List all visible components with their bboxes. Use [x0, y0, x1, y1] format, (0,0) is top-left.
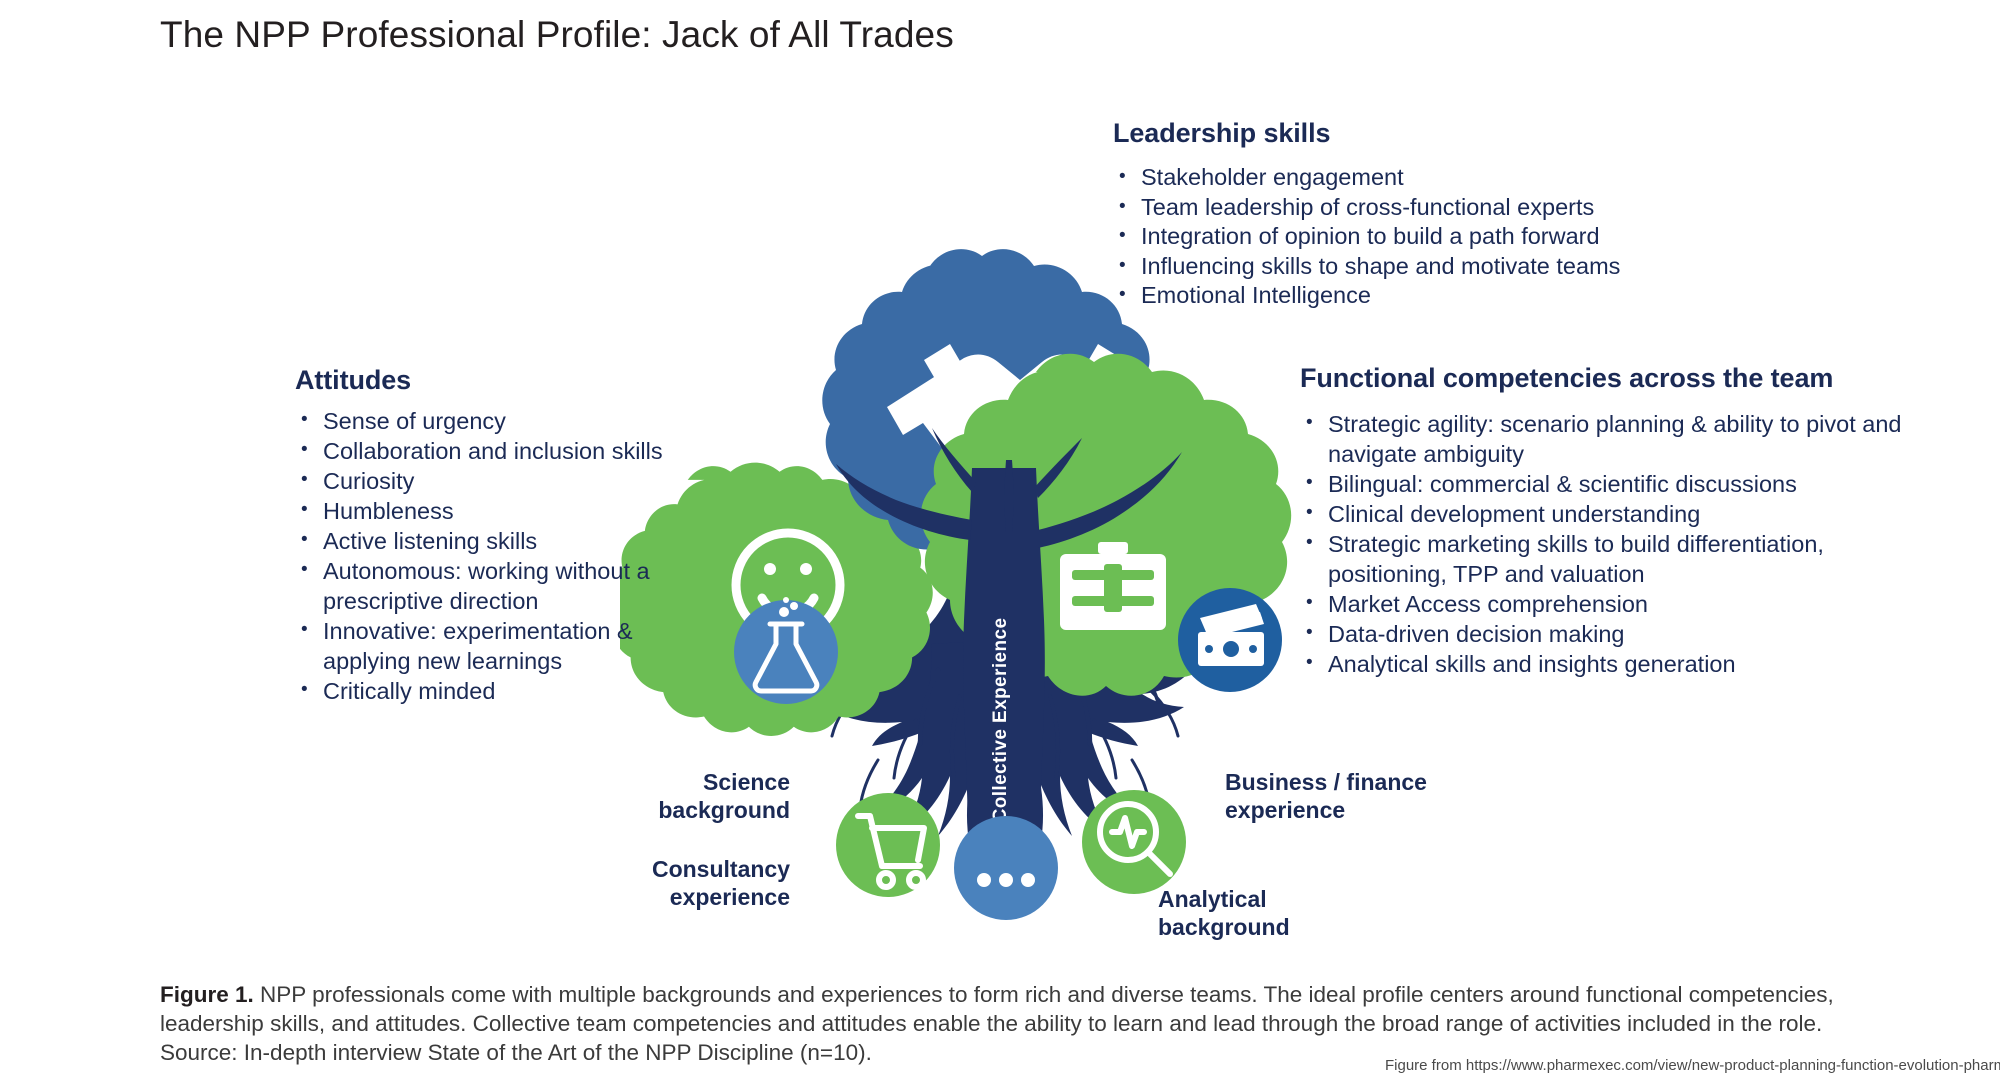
list-item: Collaboration and inclusion skills [295, 436, 725, 466]
root-label-business: Business / finance experience [1225, 768, 1455, 824]
root-label-business-line1: Business / finance [1225, 768, 1455, 796]
attitudes-heading: Attitudes [295, 365, 725, 396]
attitudes-block: Attitudes Sense of urgencyCollaboration … [295, 365, 725, 706]
list-item: Critically minded [295, 676, 725, 706]
root-label-science-line2: background [630, 796, 790, 824]
list-item: Integration of opinion to build a path f… [1113, 222, 1753, 252]
list-item: Team leadership of cross-functional expe… [1113, 193, 1753, 223]
root-node-analytical[interactable] [1082, 790, 1186, 894]
list-item: Curiosity [295, 466, 725, 496]
figure-caption-text: NPP professionals come with multiple bac… [160, 982, 1834, 1065]
root-label-consultancy: Consultancy experience [620, 855, 790, 911]
root-node-consultancy[interactable] [836, 793, 940, 897]
figure-caption-label: Figure 1. [160, 982, 254, 1007]
root-label-business-line2: experience [1225, 796, 1455, 824]
list-item: Bilingual: commercial & scientific discu… [1300, 469, 1940, 499]
tree-figure: Collective Experience [620, 220, 1390, 960]
leadership-skills-list: Stakeholder engagementTeam leadership of… [1113, 163, 1753, 311]
slide-canvas: The NPP Professional Profile: Jack of Al… [0, 0, 2000, 1082]
list-item: Strategic agility: scenario planning & a… [1300, 409, 1940, 469]
list-item: Analytical skills and insights generatio… [1300, 649, 1940, 679]
tree-illustration: Collective Experience [620, 220, 1390, 960]
root-label-analytical-line2: background [1158, 913, 1348, 941]
root-label-science: Science background [630, 768, 790, 824]
list-item: Clinical development understanding [1300, 499, 1940, 529]
trunk-label: Collective Experience [990, 618, 1011, 823]
page-title: The NPP Professional Profile: Jack of Al… [160, 14, 954, 56]
figure-caption: Figure 1. NPP professionals come with mu… [160, 980, 1890, 1067]
leadership-skills-block: Leadership skills Stakeholder engagement… [1113, 118, 1753, 311]
list-item: Innovative: experimentation & applying n… [295, 616, 725, 676]
root-node-other[interactable] [954, 816, 1058, 920]
list-item: Autonomous: working without a prescripti… [295, 556, 725, 616]
root-label-consultancy-line1: Consultancy [620, 855, 790, 883]
functional-competencies-block: Functional competencies across the team … [1300, 363, 1940, 679]
briefcase-icon [1060, 542, 1166, 630]
list-item: Active listening skills [295, 526, 725, 556]
list-item: Market Access comprehension [1300, 589, 1940, 619]
root-label-analytical-line1: Analytical [1158, 885, 1348, 913]
list-item: Data-driven decision making [1300, 619, 1940, 649]
list-item: Influencing skills to shape and motivate… [1113, 252, 1753, 282]
functional-competencies-list: Strategic agility: scenario planning & a… [1300, 409, 1940, 679]
list-item: Stakeholder engagement [1113, 163, 1753, 193]
list-item: Humbleness [295, 496, 725, 526]
list-item: Strategic marketing skills to build diff… [1300, 529, 1940, 589]
list-item: Sense of urgency [295, 406, 725, 436]
functional-competencies-heading: Functional competencies across the team [1300, 363, 1940, 394]
list-item: Emotional Intelligence [1113, 281, 1753, 311]
source-attribution: Figure from https://www.pharmexec.com/vi… [1385, 1057, 2000, 1074]
leadership-skills-heading: Leadership skills [1113, 118, 1753, 149]
root-label-science-line1: Science [630, 768, 790, 796]
root-label-analytical: Analytical background [1158, 885, 1348, 941]
root-label-consultancy-line2: experience [620, 883, 790, 911]
attitudes-list: Sense of urgencyCollaboration and inclus… [295, 406, 725, 706]
root-node-business[interactable] [1178, 588, 1282, 692]
ellipsis-icon [977, 873, 1035, 887]
